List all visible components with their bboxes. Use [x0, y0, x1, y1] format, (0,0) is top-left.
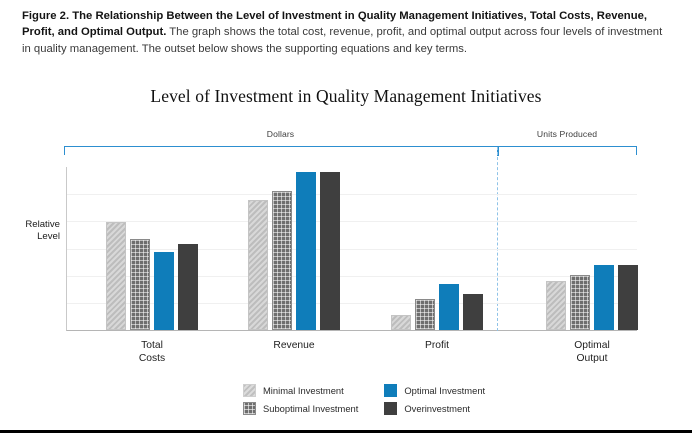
bar-group-total-costs: Total Costs: [97, 167, 207, 330]
bar-suboptimal[interactable]: [570, 275, 590, 330]
legend-swatch-minimal-icon: [243, 384, 256, 397]
bar-minimal[interactable]: [106, 222, 126, 330]
legend-swatch-suboptimal-icon: [243, 402, 256, 415]
bar-over[interactable]: [463, 294, 483, 330]
bar-suboptimal[interactable]: [415, 299, 435, 330]
legend-label: Overinvestment: [404, 403, 470, 414]
axis-bracket: [64, 146, 637, 155]
legend-item-optimal[interactable]: Optimal Investment: [384, 384, 485, 397]
legend-item-over[interactable]: Overinvestment: [384, 402, 485, 415]
x-axis-label: Optimal Output: [537, 339, 647, 365]
bar-set: [382, 167, 492, 330]
bar-optimal[interactable]: [594, 265, 614, 330]
y-axis-label: Relative Level: [2, 219, 60, 244]
bar-set: [97, 167, 207, 330]
legend-item-minimal[interactable]: Minimal Investment: [243, 384, 358, 397]
figure-body: Level of Investment in Quality Managemen…: [0, 0, 692, 433]
bar-suboptimal[interactable]: [272, 191, 292, 330]
bracket-label-units: Units Produced: [497, 129, 637, 139]
bracket-label-dollars: Dollars: [64, 129, 497, 139]
bar-minimal[interactable]: [248, 200, 268, 330]
legend-label: Minimal Investment: [263, 385, 344, 396]
bar-minimal[interactable]: [391, 315, 411, 330]
chart-title: Level of Investment in Quality Managemen…: [0, 86, 692, 107]
bar-over[interactable]: [618, 265, 638, 330]
x-axis-label: Total Costs: [97, 339, 207, 365]
bar-group-profit: Profit: [382, 167, 492, 330]
bar-optimal[interactable]: [439, 284, 459, 330]
legend-swatch-optimal-icon: [384, 384, 397, 397]
legend-label: Suboptimal Investment: [263, 403, 358, 414]
chart-legend: Minimal InvestmentOptimal InvestmentSubo…: [243, 384, 485, 415]
bar-optimal[interactable]: [296, 172, 316, 330]
bar-suboptimal[interactable]: [130, 239, 150, 330]
bar-minimal[interactable]: [546, 281, 566, 330]
bar-group-revenue: Revenue: [239, 167, 349, 330]
bar-group-optimal-output: Optimal Output: [537, 167, 647, 330]
bar-set: [239, 167, 349, 330]
legend-label: Optimal Investment: [404, 385, 485, 396]
bar-set: [537, 167, 647, 330]
plot-area: Total CostsRevenueProfitOptimal Output: [66, 167, 637, 331]
x-axis-label: Revenue: [239, 339, 349, 352]
bar-over[interactable]: [320, 172, 340, 330]
legend-item-suboptimal[interactable]: Suboptimal Investment: [243, 402, 358, 415]
bar-over[interactable]: [178, 244, 198, 330]
legend-swatch-over-icon: [384, 402, 397, 415]
bar-optimal[interactable]: [154, 252, 174, 330]
x-axis-label: Profit: [382, 339, 492, 352]
